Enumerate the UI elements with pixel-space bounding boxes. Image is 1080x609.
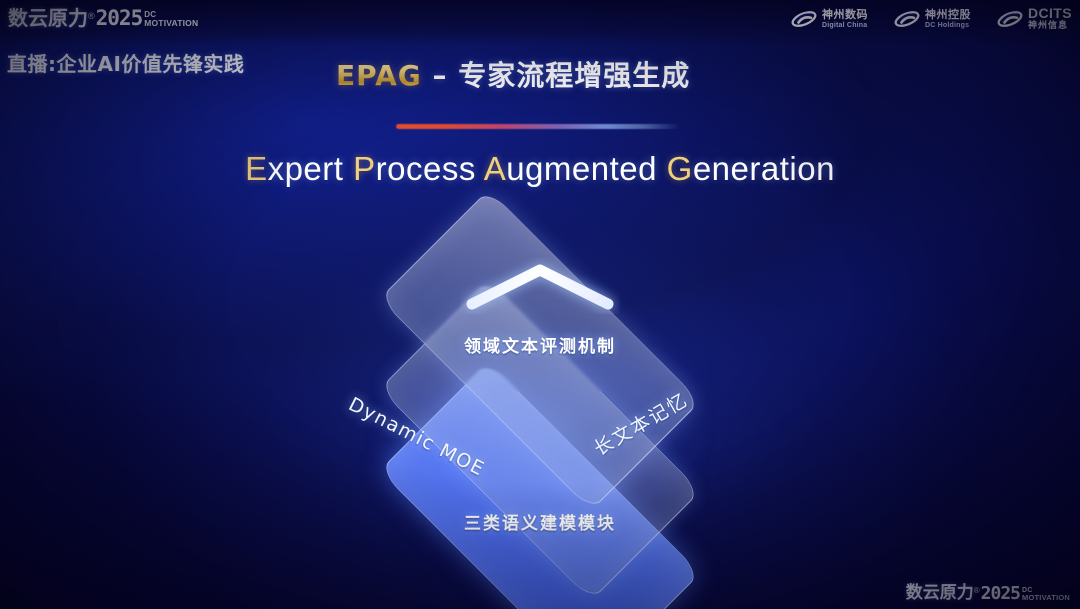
partner-name-cn: 神州控股 [925,9,971,20]
subtitle-token-3: rocess [376,150,484,187]
partner-logo-digital-china: 神州数码 Digital China [791,9,868,29]
event-logo-year: 2025 [96,7,143,29]
event-logo-motivation: MOTIVATION [144,19,198,28]
watermark-name-cn: 数云原力 [906,584,974,603]
partner-logo-group: 神州数码 Digital China 神州控股 DC Holdings [791,6,1072,31]
page-title: EPAG – 专家流程增强生成 [336,54,690,94]
watermark-year: 2025 [981,584,1020,603]
slide-stage: 数云原力 ® 2025 DC MOTIVATION 直播:企业AI价值先锋实践 … [0,0,1080,609]
partner-text: DCITS 神州信息 [1028,6,1072,31]
subtitle-token-1: xpert [268,150,354,187]
title-subtitle-cn: – 专家流程增强生成 [422,59,691,92]
divider [396,124,680,129]
partner-name-cn: 神州信息 [1028,22,1072,31]
swirl-icon [894,9,920,29]
watermark-registered: ® [974,586,980,596]
partner-text: 神州数码 Digital China [822,9,868,29]
layer-stack-diagram: 领域文本评测机制 Dynamic MOE 长文本记忆 三类语义建模模块 [270,222,810,582]
layer-bottom-label: 三类语义建模模块 [270,509,810,534]
subtitle-english: Expert Process Augmented Generation [0,150,1080,188]
partner-name-en: Digital China [822,22,868,29]
partner-logo-dc-holdings: 神州控股 DC Holdings [894,9,971,29]
subtitle-token-2: P [353,150,376,187]
subtitle-token-4: A [484,150,507,187]
event-logo-name-cn: 数云原力 [8,7,88,29]
partner-text: 神州控股 DC Holdings [925,9,971,29]
live-stream-label: 直播:企业AI价值先锋实践 [7,48,244,77]
subtitle-token-7: eneration [693,150,835,187]
registered-mark: ® [88,11,95,21]
chevron-up-icon [460,258,620,314]
partner-logo-dcits: DCITS 神州信息 [997,6,1072,31]
subtitle-token-5: ugmented [506,150,666,187]
watermark-logo: 数云原力 ® 2025 DC MOTIVATION [906,584,1070,603]
swirl-icon [791,9,817,29]
layer-top-label: 领域文本评测机制 [270,332,810,357]
partner-name-en: DC Holdings [925,22,971,29]
subtitle-token-0: E [245,150,268,187]
swirl-icon [997,9,1023,29]
subtitle-token-6: G [667,150,693,187]
event-logo: 数云原力 ® 2025 DC MOTIVATION [8,3,198,29]
event-logo-tagline: DC MOTIVATION [144,11,198,28]
title-acronym: EPAG [336,59,422,92]
partner-name-cn: 神州数码 [822,9,868,20]
partner-name-en: DCITS [1028,6,1072,20]
watermark-tagline: DC MOTIVATION [1022,587,1070,602]
watermark-motivation: MOTIVATION [1022,594,1070,602]
